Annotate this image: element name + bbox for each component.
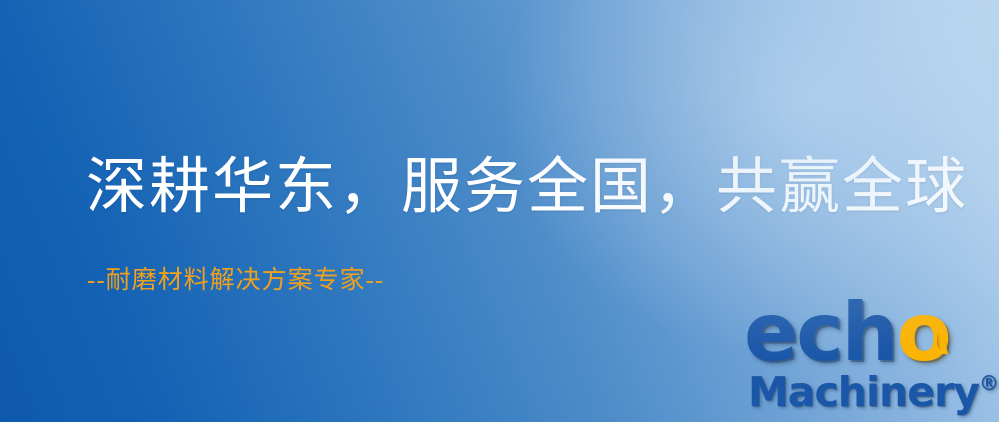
banner-headline: 深耕华东，服务全国，共赢全球 [86, 152, 968, 224]
logo-wordmark: echo [744, 294, 950, 372]
logo-tagline-text: Machinery [748, 368, 979, 416]
logo-tagline: Machinery® [748, 368, 999, 416]
logo-wordmark-gold-letter: o [897, 286, 950, 379]
banner-subtitle: --耐磨材料解决方案专家-- [87, 266, 384, 296]
registered-trademark-icon: ® [979, 371, 999, 395]
logo-wordmark-blue-text: ech [744, 286, 897, 379]
company-logo[interactable]: echo Machinery® [744, 294, 999, 420]
promotional-banner: 深耕华东，服务全国，共赢全球 --耐磨材料解决方案专家-- echo [0, 0, 999, 422]
